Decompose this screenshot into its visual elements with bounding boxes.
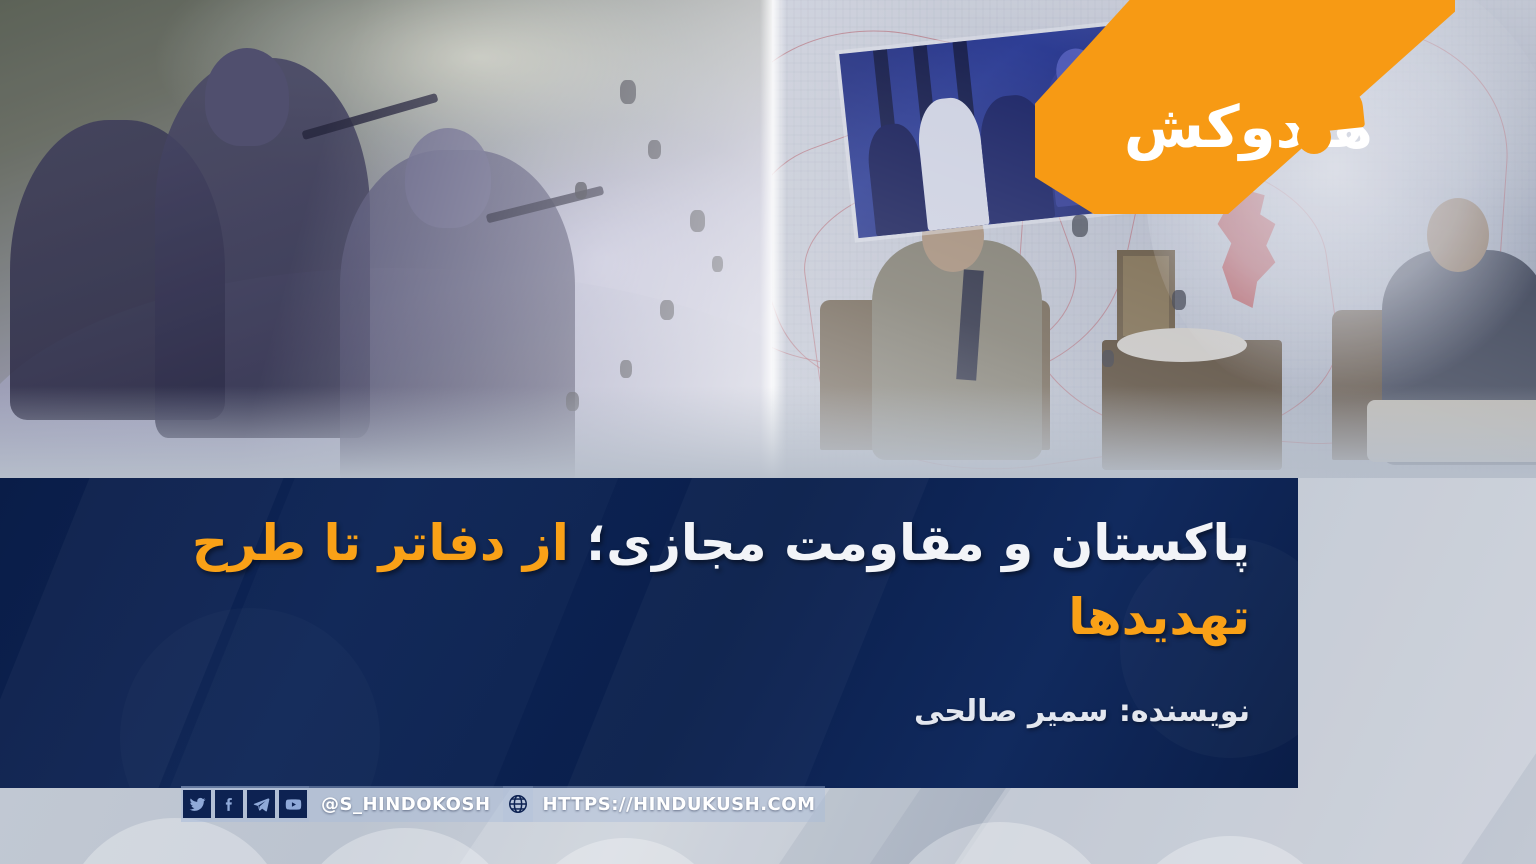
site-logo[interactable]: هندوکش bbox=[1035, 0, 1455, 212]
hindukush-bird-mark-icon bbox=[1293, 86, 1365, 158]
title-segment-white: پاکستان و مقاومت مجازی؛ bbox=[586, 514, 1250, 572]
facebook-icon[interactable] bbox=[215, 790, 243, 818]
page-title: پاکستان و مقاومت مجازی؛ از دفاتر تا طرح … bbox=[100, 506, 1250, 654]
title-panel: پاکستان و مقاومت مجازی؛ از دفاتر تا طرح … bbox=[0, 478, 1298, 788]
social-icon-strip bbox=[181, 786, 309, 822]
hero-bottom-fade bbox=[0, 386, 1536, 478]
title-segment-orange-2: تهدیدها bbox=[1068, 588, 1250, 646]
article-cover-canvas: هندوکش پاکستان و مقاومت مجازی؛ از دفاتر … bbox=[0, 0, 1536, 864]
social-handle[interactable]: @S_HINDOKOSH bbox=[309, 786, 503, 822]
youtube-icon[interactable] bbox=[279, 790, 307, 818]
title-segment-orange-1: از دفاتر تا طرح bbox=[192, 514, 569, 572]
globe-icon bbox=[503, 786, 533, 822]
telegram-icon[interactable] bbox=[247, 790, 275, 818]
website-url[interactable]: HTTPS://HINDUKUSH.COM bbox=[533, 786, 826, 822]
byline: نویسنده: سمیر صالحی bbox=[914, 694, 1250, 729]
footer-bar: @S_HINDOKOSH HTTPS://HINDUKUSH.COM bbox=[181, 786, 825, 822]
twitter-icon[interactable] bbox=[183, 790, 211, 818]
